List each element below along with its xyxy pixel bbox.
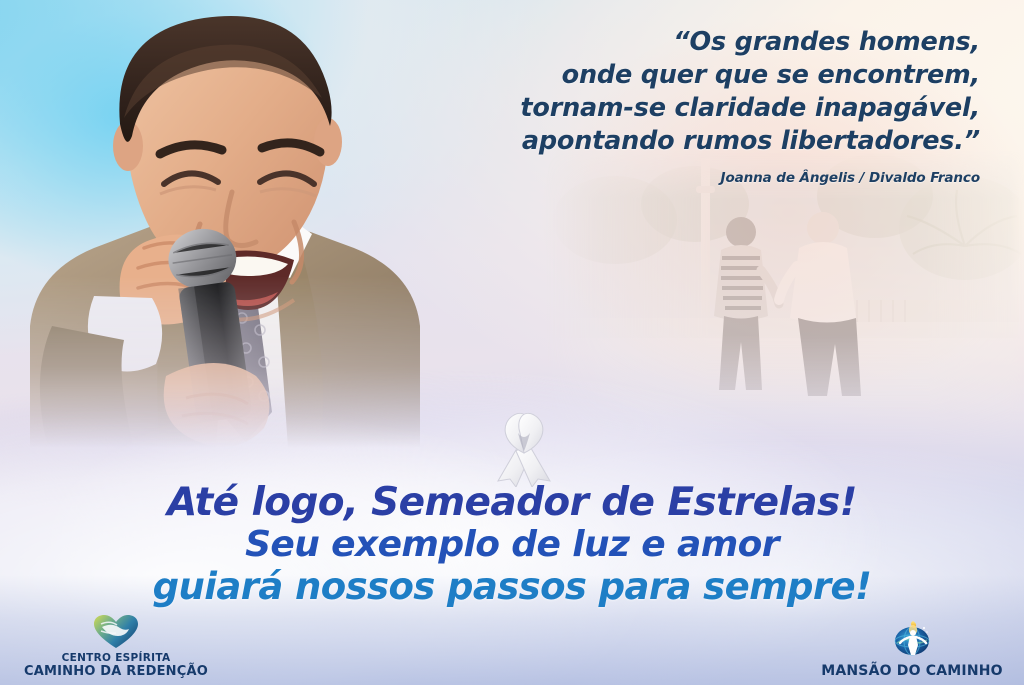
- heart-hand-icon: [92, 614, 140, 650]
- quote-attribution: Joanna de Ângelis / Divaldo Franco: [420, 170, 980, 186]
- quote-line-1: “Os grandes homens,: [420, 26, 980, 59]
- quote-line-2: onde quer que se encontrem,: [420, 59, 980, 92]
- headline-block: Até logo, Semeador de Estrelas! Seu exem…: [0, 483, 1024, 605]
- headline-line-2: Seu exemplo de luz e amor: [0, 527, 1024, 563]
- quote-line-4: apontando rumos libertadores.”: [420, 125, 980, 158]
- white-mourning-ribbon-icon: [488, 409, 560, 487]
- logo-centro-espirita: CENTRO ESPÍRITA CAMINHO DA REDENÇÃO: [16, 614, 216, 679]
- portrait-divaldo-franco: [8, 0, 478, 448]
- logo-left-line-2: CAMINHO DA REDENÇÃO: [24, 664, 208, 679]
- logo-right-text: MANSÃO DO CAMINHO: [821, 659, 1003, 679]
- logo-right-line-1: MANSÃO DO CAMINHO: [821, 663, 1003, 679]
- globe-figure-icon: [888, 621, 936, 657]
- headline-line-3: guiará nossos passos para sempre!: [0, 568, 1024, 605]
- logo-mansao-do-caminho: MANSÃO DO CAMINHO: [806, 621, 1018, 679]
- poster-canvas: “Os grandes homens, onde quer que se enc…: [0, 0, 1024, 685]
- quote-block: “Os grandes homens, onde quer que se enc…: [420, 26, 980, 186]
- quote-line-3: tornam-se claridade inapagável,: [420, 92, 980, 125]
- headline-line-1: Até logo, Semeador de Estrelas!: [0, 483, 1024, 522]
- logo-left-text: CENTRO ESPÍRITA CAMINHO DA REDENÇÃO: [24, 652, 208, 679]
- logo-left-line-1: CENTRO ESPÍRITA: [24, 652, 208, 664]
